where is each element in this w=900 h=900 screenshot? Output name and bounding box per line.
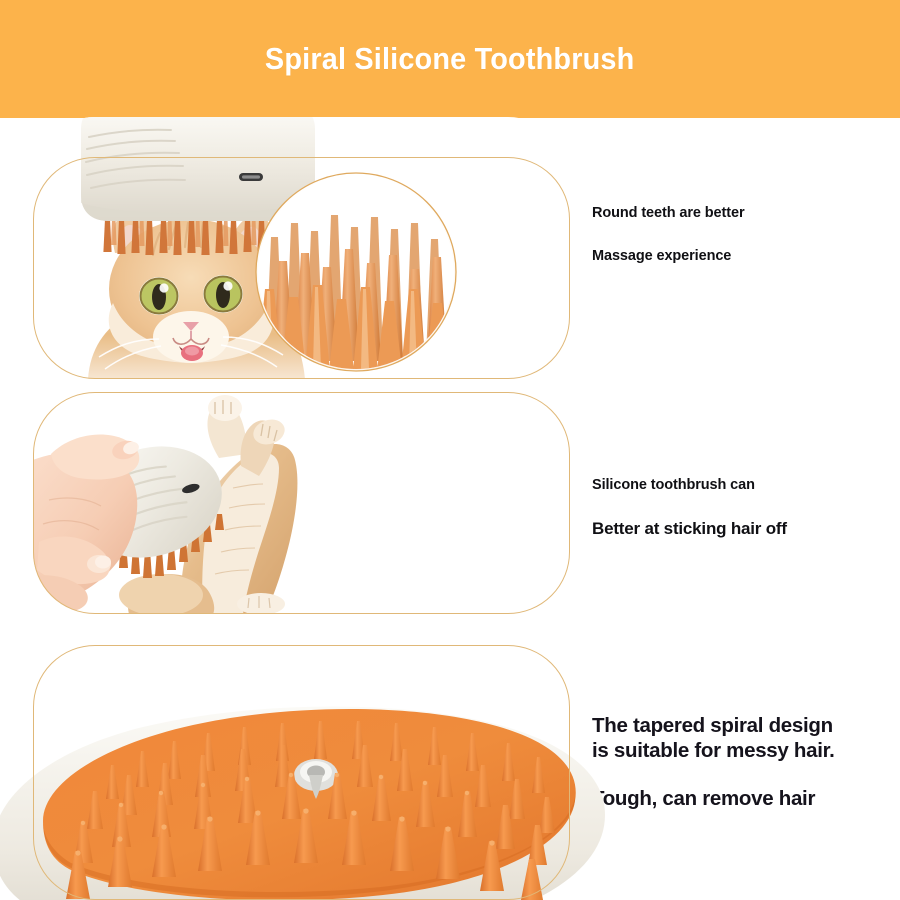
caption-better-sticking-hair: Better at sticking hair off (592, 520, 787, 537)
panel-round-teeth (33, 157, 570, 379)
panel-2-photo (33, 392, 570, 614)
panel-tapered-spiral (33, 645, 570, 900)
caption-silicone-toothbrush-can: Silicone toothbrush can (592, 478, 755, 493)
caption-round-teeth: Round teeth are better (592, 206, 745, 221)
panel-sticking-hair (33, 392, 570, 614)
product-infographic: Spiral Silicone Toothbrush (0, 0, 900, 900)
caption-massage-experience: Massage experience (592, 249, 731, 264)
magnifier-inset (256, 173, 456, 371)
panel-1-photo (33, 157, 570, 379)
caption-tapered-spiral-line2: is suitable for messy hair. (592, 738, 835, 763)
header-banner: Spiral Silicone Toothbrush (0, 0, 900, 118)
caption-tough-remove-hair: Tough, can remove hair (592, 789, 815, 810)
caption-tapered-spiral-line1: The tapered spiral design (592, 713, 833, 738)
page-title: Spiral Silicone Toothbrush (265, 41, 635, 77)
panel-3-photo (33, 645, 570, 900)
